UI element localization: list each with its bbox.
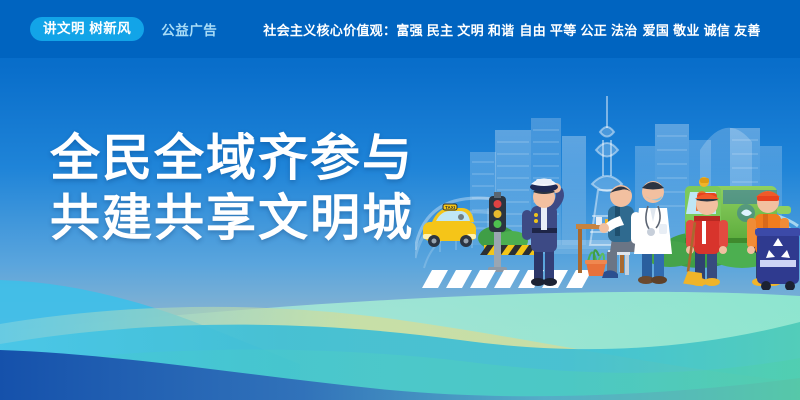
headline-line-1: 全民全域齐参与	[50, 128, 414, 188]
core-values-group-2: 自由 平等 公正 法治	[519, 23, 637, 38]
core-socialist-values: 社会主义核心价值观：富强 民主 文明 和谐自由 平等 公正 法治爱国 敬业 诚信…	[263, 20, 760, 39]
core-values-group-1: 富强 民主 文明 和谐	[396, 23, 514, 38]
psa-banner: 讲文明 树新风 公益广告 社会主义核心价值观：富强 民主 文明 和谐自由 平等 …	[0, 0, 800, 400]
header-bar: 讲文明 树新风 公益广告 社会主义核心价值观：富强 民主 文明 和谐自由 平等 …	[0, 0, 800, 58]
core-values-prefix: 社会主义核心价值观：	[263, 23, 396, 38]
campaign-badge: 讲文明 树新风	[30, 17, 144, 42]
wave-decoration	[0, 270, 800, 400]
bollard-striped	[480, 245, 536, 255]
headline-block: 全民全域齐参与 共建共享文明城	[50, 128, 414, 248]
core-values-group-3: 爱国 敬业 诚信 友善	[643, 23, 761, 38]
public-ad-label: 公益广告	[161, 19, 217, 39]
yellow-taxi: TAXI	[423, 204, 476, 247]
scene-group: TAXI	[415, 96, 800, 291]
headline-line-2: 共建共享文明城	[50, 188, 414, 248]
taxi-sign-text: TAXI	[445, 205, 455, 210]
